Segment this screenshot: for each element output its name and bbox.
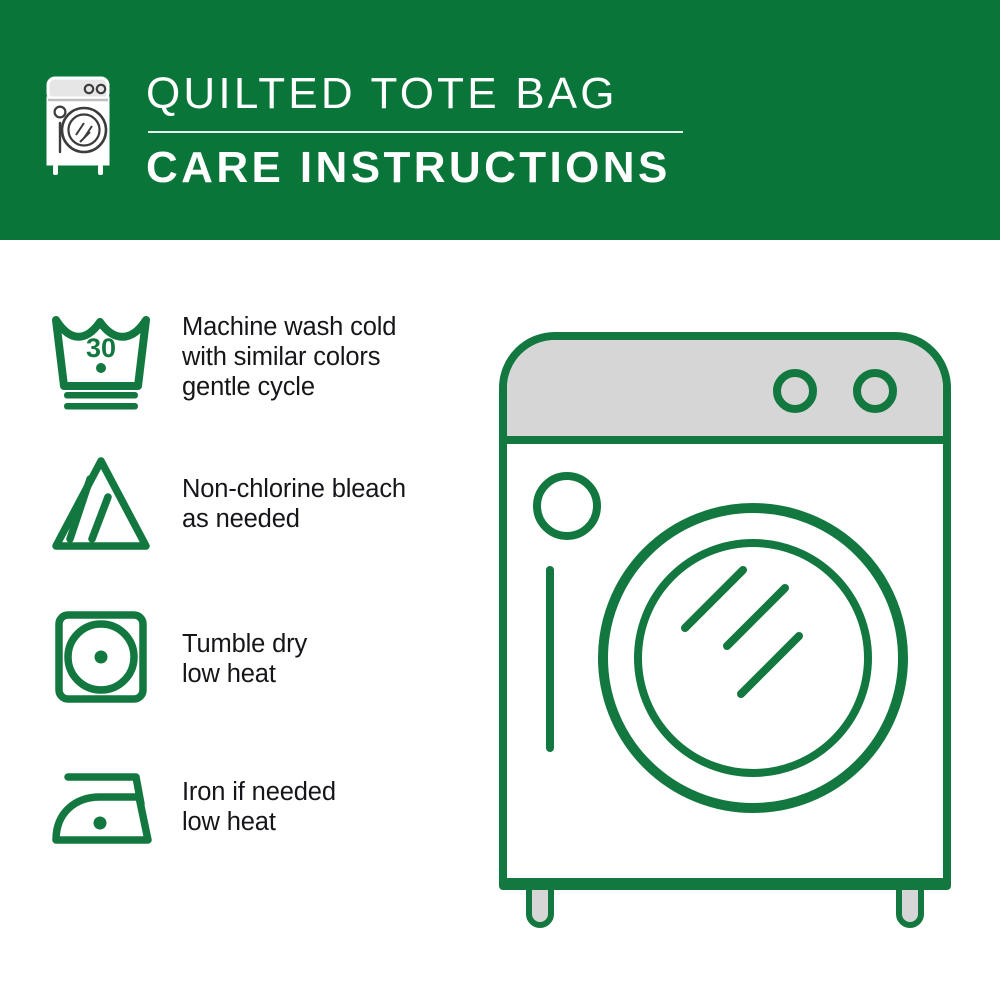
care-item-iron: Iron if needed low heat [0,748,500,866]
product-title: QUILTED TOTE BAG [146,68,746,120]
care-item-machine-wash-text: Machine wash cold with similar colors ge… [182,312,396,402]
title-divider [148,131,683,133]
non-chlorine-bleach-triangle-icon [42,445,160,563]
iron-low-heat-icon [42,748,160,866]
header-title-block: QUILTED TOTE BAG CARE INSTRUCTIONS [146,68,746,194]
wash-temperature-label: 30 [86,333,116,363]
care-text-line: low heat [182,659,307,689]
care-text-line: with similar colors [182,342,396,372]
care-item-tumble-dry: Tumble dry low heat [0,600,500,718]
care-item-bleach: Non-chlorine bleach as needed [0,445,500,563]
care-text-line: Tumble dry [182,629,307,659]
care-text-line: as needed [182,504,406,534]
care-text-line: gentle cycle [182,372,396,402]
care-item-tumble-dry-text: Tumble dry low heat [182,629,307,689]
care-instruction-list: 30 Machine wash cold with similar colors… [0,240,500,1000]
page-title: CARE INSTRUCTIONS [146,142,746,194]
header-banner: QUILTED TOTE BAG CARE INSTRUCTIONS [0,0,1000,240]
care-text-line: low heat [182,807,336,837]
care-text-line: Non-chlorine bleach [182,474,406,504]
control-panel [507,340,943,440]
tumble-dry-low-heat-icon [42,600,160,718]
care-item-machine-wash: 30 Machine wash cold with similar colors… [0,298,500,416]
care-item-iron-text: Iron if needed low heat [182,777,336,837]
wash-tub-30-gentle-icon: 30 [42,298,160,416]
care-text-line: Iron if needed [182,777,336,807]
care-instructions-infographic: QUILTED TOTE BAG CARE INSTRUCTIONS 30 [0,0,1000,1000]
washing-machine-icon [44,72,116,176]
front-load-washing-machine-illustration [495,328,975,928]
leg-right [899,884,921,925]
leg-left [529,884,551,925]
care-item-bleach-text: Non-chlorine bleach as needed [182,474,406,534]
care-text-line: Machine wash cold [182,312,396,342]
